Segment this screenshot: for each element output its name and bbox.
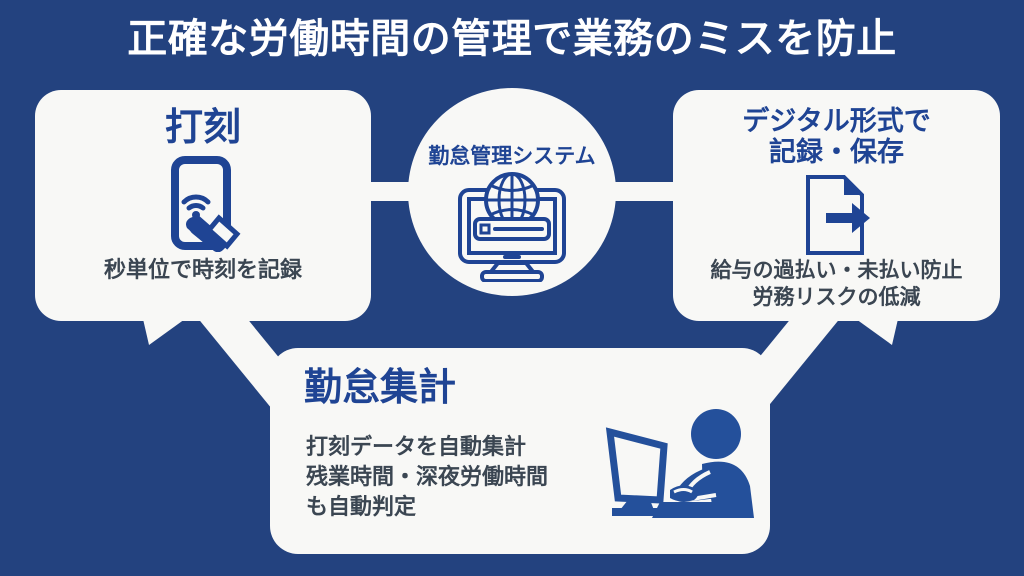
person-at-computer-icon [598,406,758,524]
card-digital-record-heading-line1: デジタル形式で [673,106,1000,137]
card-attendance-aggregation[interactable]: 勤怠集計 打刻データを自動集計 残業時間・深夜労働時間 も自動判定 [270,348,770,554]
card-attendance-system-label: 勤怠管理システム [408,140,616,170]
card-punch-clock-heading: 打刻 [35,106,371,150]
monitor-globe-icon [454,170,570,282]
card-attendance-aggregation-body: 打刻データを自動集計 残業時間・深夜労働時間 も自動判定 [306,432,548,522]
card-punch-clock-body: 秒単位で時刻を記録 [35,256,371,285]
document-export-icon [673,173,1000,257]
smartphone-tap-icon [35,156,371,252]
card-digital-record-body: 給与の過払い・未払い防止 労務リスクの低減 [673,257,1000,312]
card-digital-record-body-line1: 給与の過払い・未払い防止 [673,257,1000,284]
infographic-canvas: 正確な労働時間の管理で業務のミスを防止 打刻 [0,0,1024,576]
card-digital-record-heading: デジタル形式で 記録・保存 [673,106,1000,169]
card-attendance-aggregation-heading: 勤怠集計 [304,368,456,410]
card-digital-record-body-line2: 労務リスクの低減 [673,284,1000,311]
card-digital-record-heading-line2: 記録・保存 [673,137,1000,168]
card-digital-record[interactable]: デジタル形式で 記録・保存 給与の過払い・未払い防止 労務リスクの低減 [673,90,1000,321]
card-punch-clock[interactable]: 打刻 秒単位で時刻を記録 [35,90,371,321]
card-punch-clock-tail [143,319,203,345]
card-digital-record-tail [838,319,898,345]
card-attendance-system[interactable]: 勤怠管理システム [408,88,616,296]
